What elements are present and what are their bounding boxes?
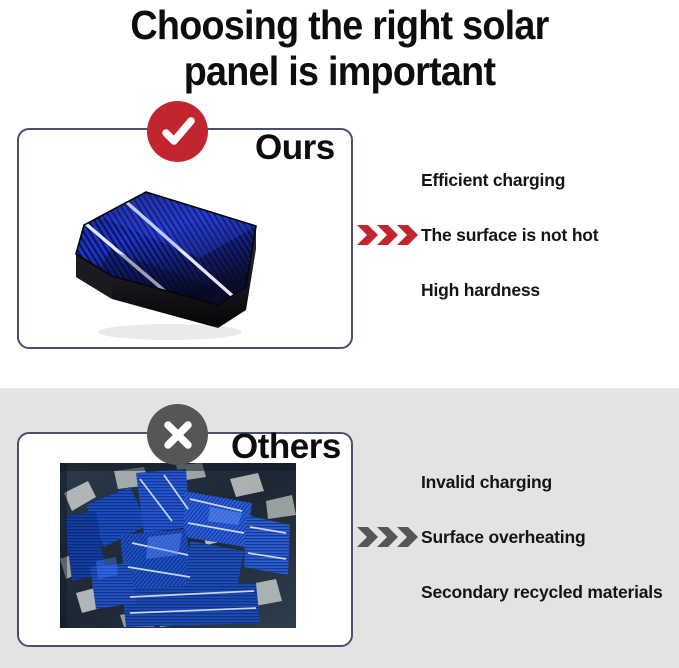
bullet-text: Surface overheating (421, 527, 585, 547)
solar-cell-illustration (50, 180, 300, 345)
card-label-others: Others (231, 429, 341, 464)
card-label-ours: Ours (255, 130, 335, 165)
bullet-text: Invalid charging (421, 472, 552, 492)
bullet-item: High hardness (421, 278, 679, 302)
title-line-1: Choosing the right solar (27, 2, 652, 48)
bullet-list-ours: Efficient charging The surface is not ho… (421, 168, 679, 302)
title-line-2: panel is important (27, 48, 652, 94)
chevrons-right-icon (356, 526, 418, 548)
page-title: Choosing the right solar panel is import… (0, 0, 679, 94)
bullet-text: The surface is not hot (421, 225, 598, 245)
bullet-text: Secondary recycled materials (421, 582, 663, 602)
x-circle-icon (147, 404, 208, 465)
bullet-text: High hardness (421, 280, 540, 300)
bullet-item: Invalid charging (421, 470, 679, 494)
broken-cells-photo (60, 463, 296, 628)
check-circle-icon (147, 101, 208, 162)
bullet-item: Surface overheating (421, 525, 679, 549)
bullet-text: Efficient charging (421, 170, 565, 190)
bullet-item: Efficient charging (421, 168, 679, 192)
bullet-list-others: Invalid charging Surface overheating Sec… (421, 470, 679, 604)
bullet-item: The surface is not hot (421, 223, 679, 247)
chevrons-right-icon (356, 224, 418, 246)
bullet-item: Secondary recycled materials (421, 580, 679, 604)
